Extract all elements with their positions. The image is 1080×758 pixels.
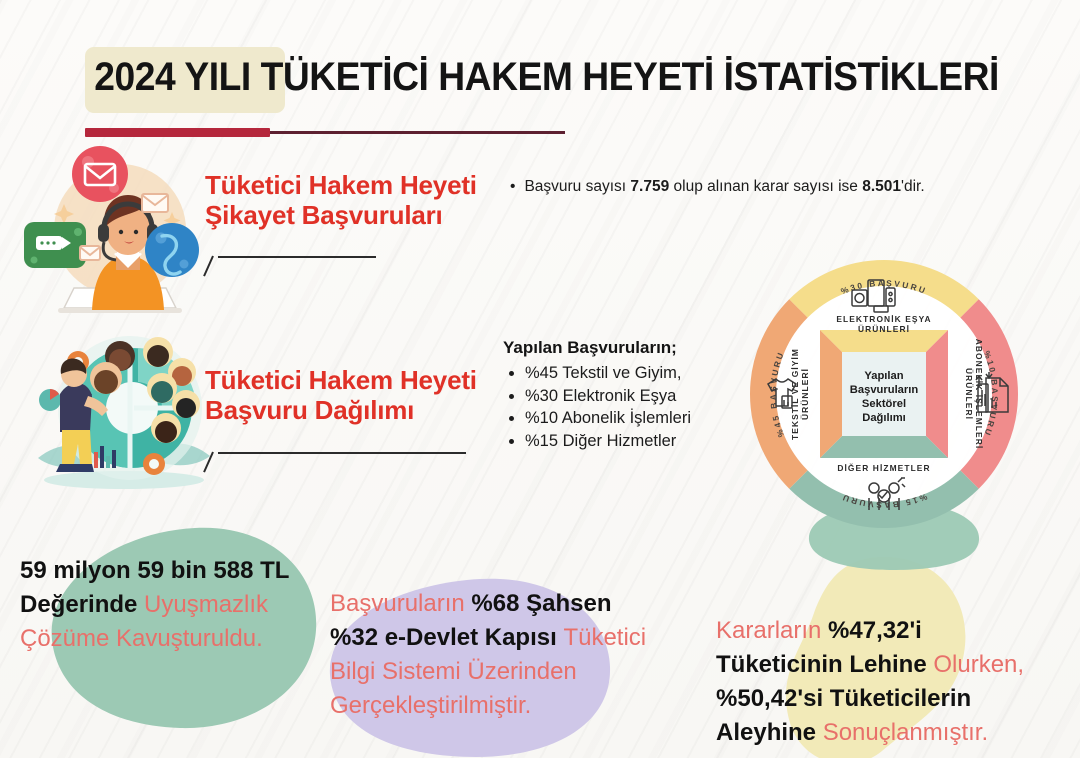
- stat-line-applications: •Başvuru sayısı 7.759 olup alınan karar …: [510, 178, 925, 196]
- text-span: Uyuşmazlık: [144, 591, 268, 618]
- ring-inner-label-elektronik-1: ELEKTRONİK EŞYA: [836, 314, 931, 324]
- text-line: Başvuruların %68 Şahsen: [330, 588, 646, 622]
- mail-badge: [72, 146, 128, 202]
- list-item: %10 Abonelik İşlemleri: [525, 407, 691, 430]
- section-heading-complaints-line1: Tüketici Hakem Heyeti: [205, 170, 477, 200]
- stat-post: 'dir.: [901, 178, 925, 195]
- stat-mid: olup alınan karar sayısı ise: [669, 178, 862, 195]
- section-heading-complaints-line2: Şikayet Başvuruları: [205, 200, 477, 230]
- ring-inner-label-tekstil-2: ÜRÜNLERİ: [800, 368, 810, 420]
- stat-value-applications: 7.759: [630, 178, 669, 195]
- section-underline-complaints: [218, 256, 376, 258]
- text-line: Gerçekleştirilmiştir.: [330, 690, 646, 724]
- text-span: Başvuruların: [330, 590, 471, 617]
- list-item: %30 Elektronik Eşya: [525, 385, 691, 408]
- stat-value-decisions: 8.501: [862, 178, 901, 195]
- bottom-block-application-channels: Başvuruların %68 Şahsen %32 e-Devlet Kap…: [330, 588, 646, 724]
- text-line: Aleyhine Sonuçlanmıştır.: [716, 717, 1024, 751]
- center-line-3: Sektörel: [862, 398, 906, 410]
- text-line: %32 e-Devlet Kapısı Tüketici: [330, 622, 646, 656]
- text-span: 59 milyon 59 bin 588 TL: [20, 557, 289, 584]
- text-span: Çözüme Kavuşturuldu.: [20, 625, 263, 652]
- sector-distribution-ring-chart: %30 BAŞVURU %10 BAŞVURU %15 BAŞVURU %45 …: [728, 238, 1040, 550]
- chat-bubble-badge: [24, 222, 86, 268]
- list-item: %45 Tekstil ve Giyim,: [525, 362, 691, 385]
- text-line: Çözüme Kavuşturuldu.: [20, 623, 289, 657]
- text-span: %68 Şahsen: [471, 590, 611, 617]
- text-line: %50,42'si Tüketicilerin: [716, 683, 1024, 717]
- section-heading-complaints: Tüketici Hakem Heyeti Şikayet Başvurular…: [205, 170, 477, 230]
- text-span: Olurken,: [933, 651, 1024, 678]
- text-span: Kararların: [716, 617, 828, 644]
- text-span: %50,42'si Tüketicilerin: [716, 685, 971, 712]
- ring-inner-label-diger: DİĞER HİZMETLER: [837, 462, 930, 473]
- ring-inner-label-abonelik-2: ÜRÜNLERİ: [964, 368, 974, 420]
- bottom-block-resolved-value: 59 milyon 59 bin 588 TL Değerinde Uyuşma…: [20, 555, 289, 657]
- title-rule-thick: [85, 128, 270, 137]
- text-span: Bilgi Sistemi Üzerinden: [330, 658, 577, 685]
- customer-service-illustration: [22, 142, 207, 317]
- distribution-list-box: Yapılan Başvuruların; %45 Tekstil ve Giy…: [503, 338, 691, 452]
- infographic-page: 2024 YILI TÜKETİCİ HAKEM HEYETİ İSTATİST…: [0, 0, 1080, 758]
- section-heading-distribution: Tüketici Hakem Heyeti Başvuru Dağılımı: [205, 365, 477, 425]
- bottom-block-decision-outcomes: Kararların %47,32'i Tüketicinin Lehine O…: [716, 615, 1024, 751]
- center-line-2: Başvuruların: [850, 384, 919, 396]
- text-span: %32 e-Devlet Kapısı: [330, 624, 563, 651]
- phone-badge: [145, 223, 199, 277]
- page-title: 2024 YILI TÜKETİCİ HAKEM HEYETİ İSTATİST…: [85, 44, 999, 110]
- center-line-1: Yapılan: [864, 370, 903, 382]
- section-heading-distribution-line2: Başvuru Dağılımı: [205, 395, 477, 425]
- stat-pre: Başvuru sayısı: [524, 178, 630, 195]
- text-line: 59 milyon 59 bin 588 TL: [20, 555, 289, 589]
- section-heading-distribution-line1: Tüketici Hakem Heyeti: [205, 365, 477, 395]
- distribution-list: %45 Tekstil ve Giyim, %30 Elektronik Eşy…: [503, 362, 691, 452]
- text-line: Değerinde Uyuşmazlık: [20, 589, 289, 623]
- text-line: Tüketicinin Lehine Olurken,: [716, 649, 1024, 683]
- text-line: Kararların %47,32'i: [716, 615, 1024, 649]
- text-span: Aleyhine: [716, 719, 823, 746]
- page-title-wrapper: 2024 YILI TÜKETİCİ HAKEM HEYETİ İSTATİST…: [85, 44, 1068, 110]
- center-line-4: Dağılımı: [862, 412, 906, 424]
- section-underline-distribution: [218, 452, 466, 454]
- ring-inner-label-tekstil-1: TEKSTİL VE GİYİM: [790, 348, 800, 440]
- title-rule-thin: [270, 131, 565, 134]
- text-span: Tüketici: [563, 624, 646, 651]
- text-span: %47,32'i: [828, 617, 922, 644]
- donut-chart-people-illustration: [30, 330, 218, 498]
- text-span: Değerinde: [20, 591, 144, 618]
- distribution-list-title: Yapılan Başvuruların;: [503, 338, 691, 358]
- text-span: Tüketicinin Lehine: [716, 651, 933, 678]
- text-span: Gerçekleştirilmiştir.: [330, 692, 531, 719]
- bullet-icon: •: [510, 178, 515, 196]
- text-span: Sonuçlanmıştır.: [823, 719, 988, 746]
- list-item: %15 Diğer Hizmetler: [525, 430, 691, 453]
- text-line: Bilgi Sistemi Üzerinden: [330, 656, 646, 690]
- ring-inner-label-elektronik-2: ÜRÜNLERİ: [858, 324, 910, 334]
